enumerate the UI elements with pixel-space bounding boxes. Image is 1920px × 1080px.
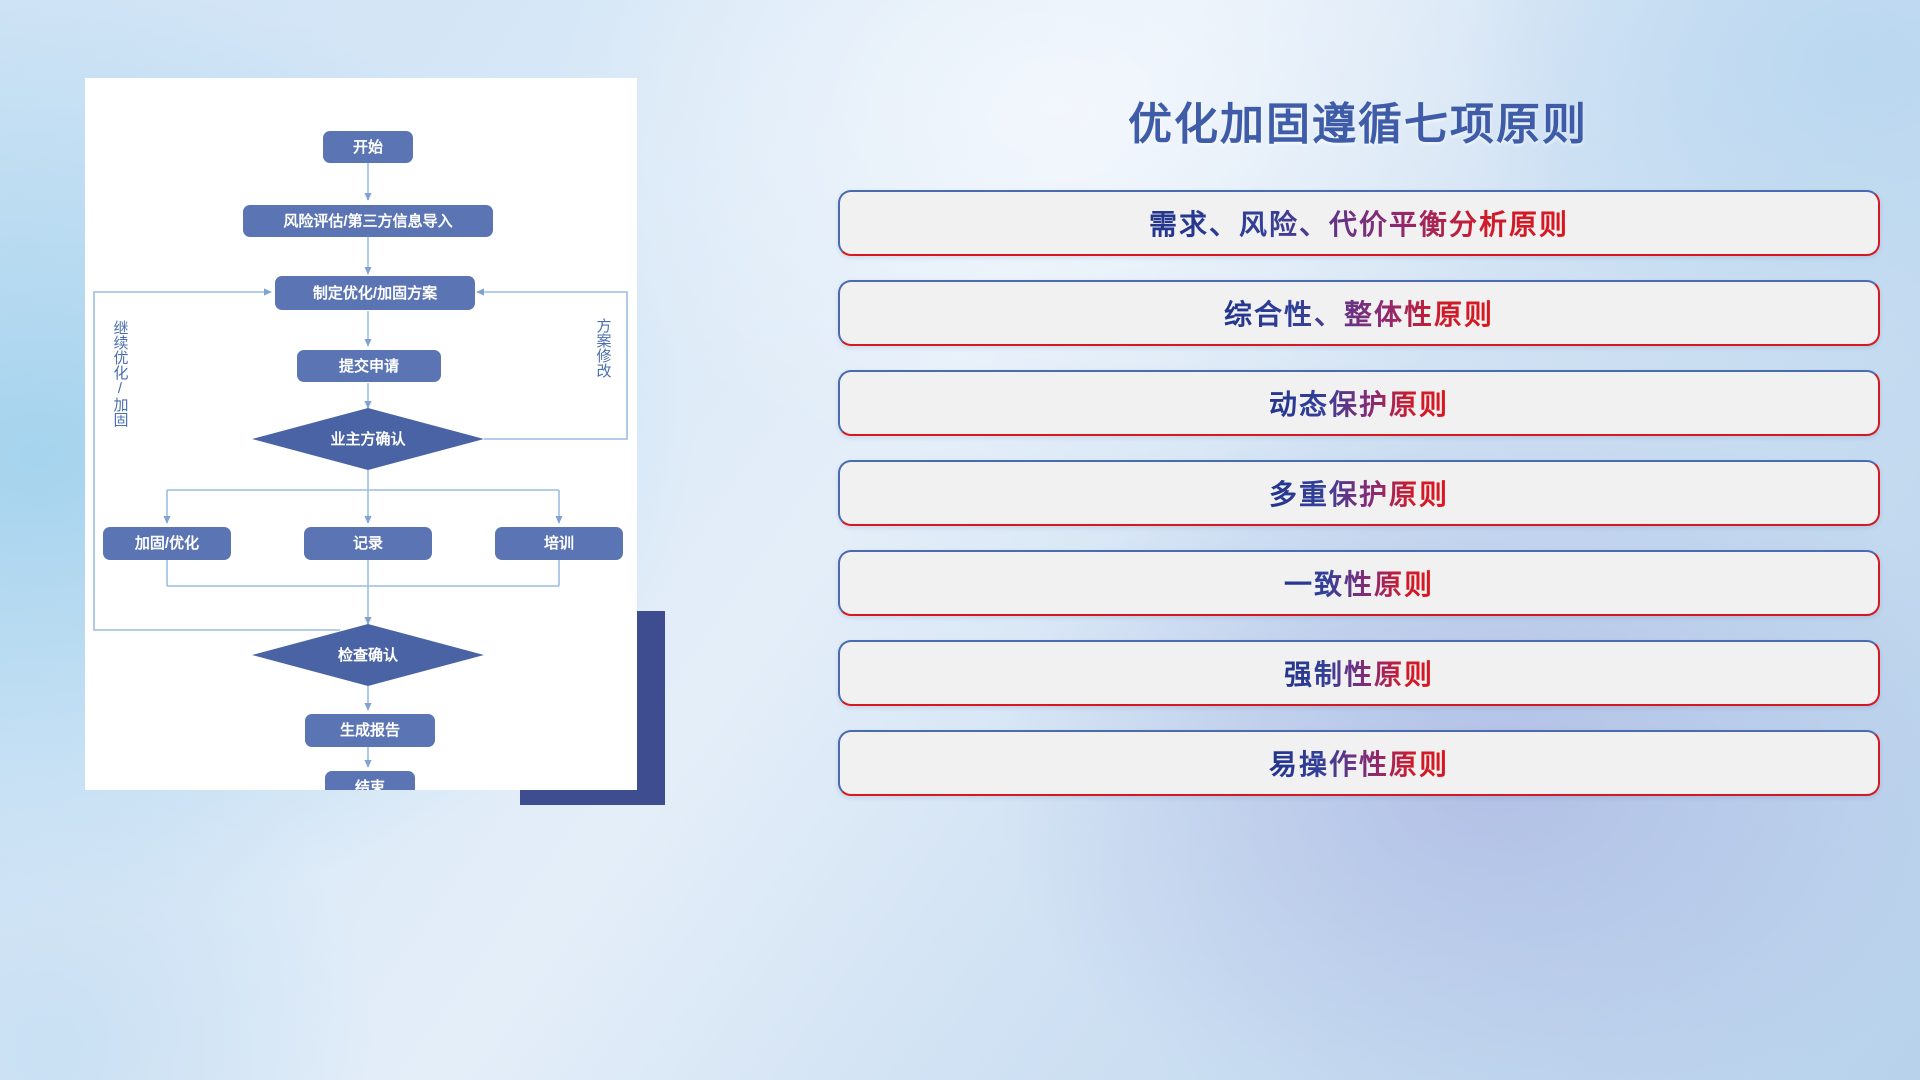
flow-node-reinforce-optimize: 加固/优化 <box>103 527 231 560</box>
flow-node-end: 结束 <box>325 771 415 790</box>
flow-node-training: 培训 <box>495 527 623 560</box>
flow-node-owner-confirm: 业主方确认 <box>252 408 484 470</box>
flow-node-generate-report-label: 生成报告 <box>340 721 400 739</box>
principle-card-4[interactable]: 多重保护原则 <box>838 460 1880 526</box>
flowchart-panel: 开始 风险评估/第三方信息导入 制定优化/加固方案 提交申请 业主方确认 加固/ <box>85 78 637 790</box>
flow-node-end-label: 结束 <box>355 778 386 790</box>
flow-node-submit-application: 提交申请 <box>297 350 441 382</box>
flow-node-risk-assessment: 风险评估/第三方信息导入 <box>243 205 493 237</box>
principle-card-label: 易操作性原则 <box>1269 743 1449 783</box>
principle-card-6[interactable]: 强制性原则 <box>838 640 1880 706</box>
principle-card-5[interactable]: 一致性原则 <box>838 550 1880 616</box>
flow-node-generate-report: 生成报告 <box>305 714 435 747</box>
principle-card-label: 强制性原则 <box>1284 653 1434 693</box>
principle-card-1[interactable]: 需求、风险、代价平衡分析原则 <box>838 190 1880 256</box>
principle-card-label: 多重保护原则 <box>1269 473 1449 513</box>
flow-node-owner-confirm-label: 业主方确认 <box>330 430 406 448</box>
flow-node-record: 记录 <box>304 527 432 560</box>
principle-card-label: 一致性原则 <box>1284 563 1434 603</box>
flow-node-training-label: 培训 <box>544 534 574 552</box>
principle-card-label: 需求、风险、代价平衡分析原则 <box>1149 203 1569 243</box>
flow-node-record-label: 记录 <box>353 535 383 552</box>
flowchart-diagram: 开始 风险评估/第三方信息导入 制定优化/加固方案 提交申请 业主方确认 加固/ <box>85 78 637 790</box>
flow-node-risk-assessment-label: 风险评估/第三方信息导入 <box>283 212 452 230</box>
principle-card-2[interactable]: 综合性、整体性原则 <box>838 280 1880 346</box>
page-title: 优化加固遵循七项原则 <box>838 88 1878 152</box>
principles-list: 需求、风险、代价平衡分析原则 综合性、整体性原则 动态保护原则 多重保护原则 一… <box>838 190 1880 820</box>
flow-node-start: 开始 <box>323 131 413 163</box>
principle-card-3[interactable]: 动态保护原则 <box>838 370 1880 436</box>
flow-node-reinforce-optimize-label: 加固/优化 <box>134 534 199 552</box>
flow-edge-label-left-loop: 继续优化/加固 <box>112 320 129 427</box>
flow-node-submit-application-label: 提交申请 <box>339 357 399 375</box>
flow-node-start-label: 开始 <box>353 138 383 156</box>
principle-card-label: 动态保护原则 <box>1269 383 1449 423</box>
flow-edge-label-right-loop: 方案修改 <box>595 318 612 378</box>
principles-panel: 优化加固遵循七项原则 需求、风险、代价平衡分析原则 综合性、整体性原则 动态保护… <box>838 0 1920 1080</box>
principle-card-7[interactable]: 易操作性原则 <box>838 730 1880 796</box>
flow-node-inspection-confirm: 检查确认 <box>252 624 484 686</box>
flow-node-inspection-confirm-label: 检查确认 <box>338 646 399 664</box>
flow-node-make-plan-label: 制定优化/加固方案 <box>313 284 438 302</box>
flowchart-canvas: 开始 风险评估/第三方信息导入 制定优化/加固方案 提交申请 业主方确认 加固/ <box>85 78 637 790</box>
flow-node-make-plan: 制定优化/加固方案 <box>275 276 475 310</box>
principle-card-label: 综合性、整体性原则 <box>1224 293 1494 333</box>
